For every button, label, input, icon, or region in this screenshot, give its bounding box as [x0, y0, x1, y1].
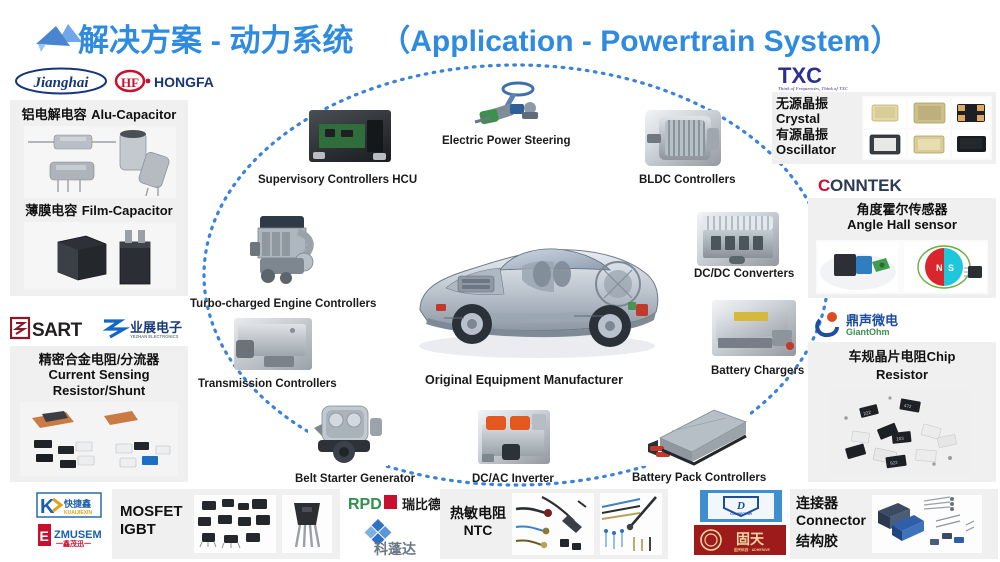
conntek-logo: C ONNTEK	[818, 174, 928, 196]
connector-brand-logo: D CONNECTOR	[700, 490, 782, 522]
svg-text:K: K	[40, 496, 55, 518]
svg-text:Jianghai: Jianghai	[32, 75, 89, 91]
giantohm-logo: 鼎声微电 GiantOhm	[812, 308, 930, 338]
svg-text:D: D	[736, 500, 745, 512]
hall-sensor-photos: N S	[816, 240, 988, 294]
panel-crystal-title: 无源晶振 Crystal 有源晶振 Oscillator	[776, 96, 860, 157]
svg-text:固天科技 · ADHESIVE: 固天科技 · ADHESIVE	[734, 547, 771, 552]
svg-text:快捷鑫: 快捷鑫	[64, 498, 91, 509]
steering-column-photo	[470, 78, 552, 132]
svg-text:鼎声微电: 鼎声微电	[846, 313, 898, 328]
diagram-label-battery-pack-controllers: Battery Pack Controllers	[632, 472, 766, 484]
svg-text:N: N	[936, 263, 943, 273]
svg-text:YEZHAN ELECTRONICS: YEZHAN ELECTRONICS	[130, 334, 179, 339]
chip-resistors-photo: 222 472 103 822	[830, 388, 972, 474]
bottom-partner-strip: K 快捷鑫 KUAIJIEXIN E ZMUSEMI 一鑫茂迅一 MOSFET …	[0, 487, 1000, 562]
jianghai-logo: Jianghai	[14, 67, 108, 95]
panel-mosfet-igbt: MOSFET IGBT	[112, 489, 340, 559]
panel-connector-adhesive: 连接器 Connector 结构胶	[790, 489, 998, 559]
bsg-alternator-photo	[308, 398, 388, 466]
connector-assembly-photo	[872, 495, 982, 553]
alu-capacitor-title-cn: 铝电解电容	[22, 107, 87, 122]
panel-ntc-thermistor: 热敏电阻 NTC	[440, 489, 668, 559]
dcdc-converter-photo	[697, 212, 779, 266]
chip-resistor-title-en1: Chip	[927, 349, 956, 364]
hall-title-cn: 角度霍尔传感器	[808, 202, 996, 217]
ntc-wire-sensors-photo	[600, 493, 662, 555]
diagram-center-label: Original Equipment Manufacturer	[425, 373, 623, 387]
svg-text:业展电子: 业展电子	[130, 320, 182, 335]
chip-resistor-title-en2: Resistor	[808, 367, 996, 382]
kepengda-logo: 科蓬达	[352, 517, 438, 557]
oscillator-title-en: Oscillator	[776, 142, 860, 157]
oscillator-title-cn: 有源晶振	[776, 127, 860, 142]
page-title-bar: 解决方案 - 动力系统 （Application - Powertrain Sy…	[0, 8, 1000, 60]
battery-charger-photo	[712, 300, 796, 356]
hongfa-logo: HF HONGFA	[114, 67, 214, 95]
panel-chip-resistor-title: 车规晶片电阻Chip Resistor	[808, 348, 996, 382]
page-title: 解决方案 - 动力系统 （Application - Powertrain Sy…	[78, 15, 900, 60]
kuaijiexin-logo: K 快捷鑫 KUAIJIEXIN	[36, 491, 102, 519]
svg-text:SART: SART	[32, 320, 83, 341]
diagram-label-dcac-inverter: DC/AC Inverter	[472, 473, 554, 485]
smd-transistors-photo	[194, 495, 276, 553]
dcac-inverter-photo	[478, 410, 550, 464]
panel-crystal-oscillator: 无源晶振 Crystal 有源晶振 Oscillator	[772, 92, 996, 164]
svg-text:CONNECTOR: CONNECTOR	[730, 512, 752, 516]
svg-text:科蓬达: 科蓬达	[374, 541, 416, 557]
svg-text:固天: 固天	[736, 532, 765, 548]
svg-text:KUAIJIEXIN: KUAIJIEXIN	[64, 510, 92, 516]
diagram-label-battery-chargers: Battery Chargers	[711, 365, 804, 377]
svg-text:GiantOhm: GiantOhm	[846, 327, 890, 337]
yezhan-logo: 业展电子 YEZHAN ELECTRONICS	[102, 315, 198, 341]
svg-text:一鑫茂迅一: 一鑫茂迅一	[56, 539, 91, 548]
panel-capacitors-title-film: 薄膜电容 Film-Capacitor	[10, 202, 188, 221]
ntc-thermistor-probes-photo	[512, 493, 594, 555]
turbo-engine-photo	[246, 208, 324, 288]
mosfet-label: MOSFET	[120, 503, 200, 521]
svg-text:ZMUSEMI: ZMUSEMI	[54, 529, 102, 541]
crystal-oscillator-photos	[862, 96, 992, 160]
igbt-label: IGBT	[120, 521, 200, 539]
film-capacitor-title-cn: 薄膜电容	[25, 203, 77, 218]
svg-text:RPD: RPD	[348, 496, 382, 513]
chip-resistor-title-line1: 车规晶片电阻Chip	[808, 348, 996, 367]
svg-text:E: E	[40, 528, 49, 544]
hall-title-en: Angle Hall sensor	[808, 217, 996, 232]
adhesive-brand-logo: 固天 固天科技 · ADHESIVE	[694, 525, 786, 555]
zmusemi-logo: E ZMUSEMI 一鑫茂迅一	[36, 521, 102, 549]
svg-text:103: 103	[896, 436, 904, 442]
diagram-label-dcdc-converters: DC/DC Converters	[694, 268, 794, 280]
ntc-label: 热敏电阻 NTC	[446, 505, 510, 538]
film-capacitor-title-en: Film-Capacitor	[82, 203, 173, 218]
brand-row-resistors: SART 业展电子 YEZHAN ELECTRONICS	[10, 314, 200, 342]
crystal-title-en: Crystal	[776, 111, 860, 126]
bldc-motor-photo	[645, 110, 721, 166]
svg-text:HONGFA: HONGFA	[154, 74, 214, 90]
panel-chip-resistor: 车规晶片电阻Chip Resistor 222 472 103 822	[808, 342, 996, 482]
brand-row-capacitors: Jianghai HF HONGFA	[14, 66, 214, 96]
diagram-label-bldc-controllers: BLDC Controllers	[639, 174, 735, 186]
diagram-label-supervisory-controllers-hcu: Supervisory Controllers HCU	[258, 174, 417, 186]
rpd-logo: RPD 瑞比德	[348, 491, 440, 515]
battery-pack-photo	[642, 404, 750, 466]
shunt-title-cn: 精密合金电阻/分流器	[10, 352, 188, 367]
diagram-label-electric-power-steering: Electric Power Steering	[442, 135, 570, 147]
svg-text:HF: HF	[121, 75, 139, 90]
cutaway-car-photo	[404, 218, 670, 368]
panel-hall-sensor: 角度霍尔传感器 Angle Hall sensor N S	[808, 198, 996, 298]
aluminum-capacitors-photo	[24, 126, 176, 198]
svg-text:瑞比德: 瑞比德	[402, 497, 440, 512]
sart-logo: SART	[10, 315, 94, 341]
bridge-rectifier-photo	[282, 495, 332, 553]
transmission-ecu-photo	[234, 318, 312, 370]
svg-text:Think of Frequencies, Think of: Think of Frequencies, Think of TXC	[778, 86, 849, 91]
page-title-en: （Application - Powertrain System）	[380, 25, 900, 58]
mosfet-igbt-label: MOSFET IGBT	[120, 503, 200, 538]
panel-resistor-title: 精密合金电阻/分流器 Current Sensing Resistor/Shun…	[10, 352, 188, 398]
txc-logo: TXC Think of Frequencies, Think of TXC	[776, 62, 868, 92]
page-title-cn: 解决方案 - 动力系统	[78, 23, 354, 58]
svg-text:TXC: TXC	[778, 63, 822, 88]
film-capacitors-photo	[24, 222, 176, 290]
panel-hall-title: 角度霍尔传感器 Angle Hall sensor	[808, 202, 996, 233]
slide-canvas: 解决方案 - 动力系统 （Application - Powertrain Sy…	[0, 0, 1000, 562]
crystal-title-cn: 无源晶振	[776, 96, 860, 111]
ecu-module-photo	[309, 110, 391, 162]
svg-text:S: S	[948, 263, 954, 273]
diagram-label-turbo-charged-engine-controllers: Turbo-charged Engine Controllers	[190, 298, 376, 310]
panel-current-sensing-resistors: 精密合金电阻/分流器 Current Sensing Resistor/Shun…	[10, 346, 188, 482]
shunt-title-en-l1: Current Sensing	[10, 367, 188, 382]
shunt-title-en-l2: Resistor/Shunt	[10, 383, 188, 398]
svg-text:C: C	[818, 176, 830, 195]
diagram-label-belt-starter-generator: Belt Starter Generator	[295, 473, 415, 485]
panel-capacitors: 铝电解电容 Alu-Capacitor 薄膜电容	[10, 100, 188, 296]
ntc-label-cn: 热敏电阻	[446, 505, 510, 522]
svg-text:ONNTEK: ONNTEK	[830, 176, 903, 195]
ntc-label-en: NTC	[446, 522, 510, 539]
shunt-resistors-photo	[20, 402, 178, 476]
panel-capacitors-title-alu: 铝电解电容 Alu-Capacitor	[10, 106, 188, 125]
alu-capacitor-title-en: Alu-Capacitor	[91, 107, 176, 122]
chip-resistor-title-cn: 车规晶片电阻	[849, 349, 927, 364]
diagram-label-transmission-controllers: Transmission Controllers	[198, 378, 337, 390]
